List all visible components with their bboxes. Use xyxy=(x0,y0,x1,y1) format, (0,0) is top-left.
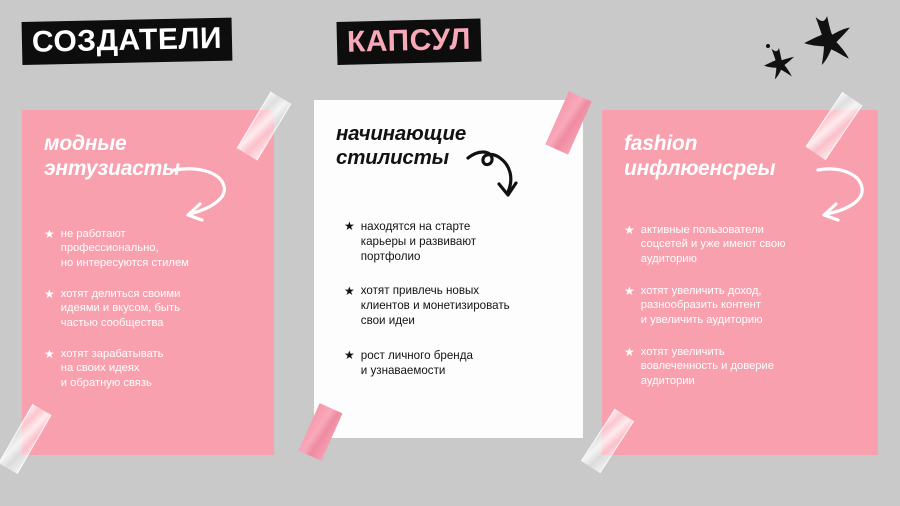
title-line-primary: СОЗДАТЕЛИ xyxy=(22,18,233,65)
dot-icon xyxy=(766,44,770,48)
card-bullet-list: ★ находятся на старте карьеры и развиваю… xyxy=(344,220,563,379)
list-item-text: находятся на старте карьеры и развивают … xyxy=(361,220,563,264)
slide-title: СОЗДАТЕЛИ КАПСУЛ xyxy=(22,22,480,65)
list-item-text: не работают профессионально, но интересу… xyxy=(61,227,254,270)
card-heading: начинающие стилисты xyxy=(336,122,563,170)
star-icon xyxy=(800,14,852,66)
star-icon-small xyxy=(762,46,796,80)
list-item-text: рост личного бренда и узнаваемости xyxy=(361,349,563,379)
star-bullet-icon: ★ xyxy=(344,284,355,298)
star-bullet-icon: ★ xyxy=(44,287,55,301)
star-bullet-icon: ★ xyxy=(624,284,635,298)
list-item: ★ хотят увеличить доход, разнообразить к… xyxy=(624,284,858,327)
list-item: ★ активные пользователи соцсетей и уже и… xyxy=(624,223,858,266)
star-bullet-icon: ★ xyxy=(624,223,635,237)
list-item: ★ хотят делиться своими идеями и вкусом,… xyxy=(44,287,254,330)
title-line-secondary: КАПСУЛ xyxy=(336,18,481,65)
star-bullet-icon: ★ xyxy=(44,227,55,241)
star-bullet-icon: ★ xyxy=(344,219,355,233)
list-item-text: хотят увеличить вовлеченность и доверие … xyxy=(641,345,858,388)
list-item: ★ рост личного бренда и узнаваемости xyxy=(344,349,563,379)
audience-card-modnye-entuziasty: модные энтузиасты ★ не работают професси… xyxy=(22,110,274,455)
star-bullet-icon: ★ xyxy=(44,347,55,361)
list-item: ★ находятся на старте карьеры и развиваю… xyxy=(344,220,563,264)
list-item-text: хотят зарабатывать на своих идеях и обра… xyxy=(61,347,254,390)
slide-canvas: СОЗДАТЕЛИ КАПСУЛ модные энтузиасты ★ не … xyxy=(0,0,900,506)
list-item-text: хотят увеличить доход, разнообразить кон… xyxy=(641,284,858,327)
list-item: ★ хотят зарабатывать на своих идеях и об… xyxy=(44,347,254,390)
list-item: ★ не работают профессионально, но интере… xyxy=(44,227,254,270)
star-bullet-icon: ★ xyxy=(344,348,355,362)
list-item: ★ хотят увеличить вовлеченность и довери… xyxy=(624,345,858,388)
list-item-text: активные пользователи соцсетей и уже име… xyxy=(641,223,858,266)
card-bullet-list: ★ не работают профессионально, но интере… xyxy=(44,227,254,390)
card-heading: модные энтузиасты xyxy=(44,132,254,181)
list-item: ★ хотят привлечь новых клиентов и монети… xyxy=(344,284,563,328)
list-item-text: хотят привлечь новых клиентов и монетизи… xyxy=(361,284,563,328)
star-bullet-icon: ★ xyxy=(624,345,635,359)
audience-card-nachinayushchie-stilisty: начинающие стилисты ★ находятся на старт… xyxy=(314,100,583,438)
audience-card-fashion-influencery: fashion инфлюенсреы ★ активные пользоват… xyxy=(602,110,878,455)
card-bullet-list: ★ активные пользователи соцсетей и уже и… xyxy=(624,223,858,388)
list-item-text: хотят делиться своими идеями и вкусом, б… xyxy=(61,287,254,330)
